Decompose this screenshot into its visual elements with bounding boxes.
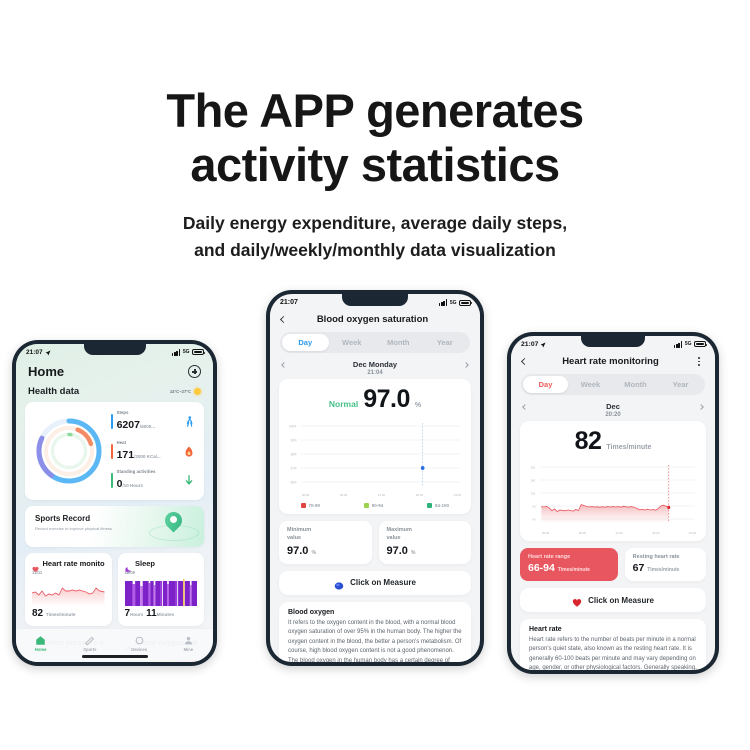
health-data-heading: Health data [28, 386, 79, 397]
reading-value: 97.0 [363, 385, 410, 414]
signal-icon [439, 299, 448, 306]
legend-label: 70-90 [309, 503, 321, 508]
card-sleep[interactable]: Sleep 12/09 [118, 553, 205, 626]
location-arrow-icon [540, 342, 546, 348]
svg-text:96%: 96% [291, 480, 297, 484]
heart-rate-info-card: Heart rate Heart rate refers to the numb… [520, 619, 706, 670]
min-value: 97.0 % [287, 545, 364, 557]
svg-text:160: 160 [531, 478, 536, 482]
metric-accent-bar [111, 414, 113, 429]
activity-rings [33, 415, 105, 487]
tab-label: Devices [131, 647, 147, 652]
svg-text:120: 120 [531, 491, 536, 495]
resting-heart-rate-card: Resting heart rate 67 Times/minute [625, 548, 706, 581]
card-date: 12/09 [125, 570, 198, 575]
reading-value: 82 [575, 427, 602, 456]
min-max-row: Minimum value 97.0 % Maximum value 97.0 … [279, 521, 471, 564]
date-label: Dec Monday [353, 360, 397, 369]
svg-text:200: 200 [531, 465, 536, 469]
location-arrow-icon [45, 350, 51, 356]
metric-accent-bar [111, 444, 113, 459]
tab-label: Home [35, 647, 47, 652]
segment-day[interactable]: Day [282, 334, 329, 351]
min-label-2: value [287, 535, 364, 543]
card-title: Sleep [135, 559, 155, 568]
svg-text:99%: 99% [291, 438, 297, 442]
maximum-value-card: Maximum value 97.0 % [379, 521, 472, 564]
battery-icon [192, 349, 204, 355]
tab-mine[interactable]: Mine [164, 633, 213, 652]
min-label-1: Minimum [287, 527, 364, 535]
click-on-measure-button[interactable]: Click on Measure [520, 588, 706, 612]
phone-notch [342, 294, 408, 306]
measure-label: Click on Measure [588, 596, 654, 605]
svg-text:97%: 97% [291, 466, 297, 470]
x-tick: 06:00 [579, 531, 586, 535]
status-badge: Normal [329, 399, 358, 409]
x-tick: 18:00 [652, 531, 659, 535]
legend-item: 90-94 [364, 503, 383, 508]
max-label-1: Maximum [387, 527, 464, 535]
reading-unit: Times/minute [606, 444, 651, 451]
flame-icon [183, 446, 194, 457]
health-summary-card[interactable]: Steps 6207/6000... Heat 171/2000 KCal... [25, 402, 204, 500]
chevron-right-icon[interactable] [698, 404, 704, 410]
metric-heat: Heat 171/2000 KCal... [111, 440, 194, 463]
nav-bar: Blood oxygen saturation [270, 308, 480, 332]
blood-oxygen-info-card: Blood oxygen It refers to the oxygen con… [279, 602, 471, 662]
hr-chart-card: 82 Times/minute [520, 421, 706, 541]
hero-section: The APP generates activity statistics Da… [0, 0, 750, 263]
sleep-bar-chart [125, 579, 198, 606]
heart-rate-range-card: Heart rate range 66-94 Times/minute [520, 548, 618, 581]
title-line-2: activity statistics [0, 138, 750, 192]
period-segmented-control: Day Week Month Year [280, 332, 470, 353]
legend-item: 70-90 [301, 503, 320, 508]
hr-stats-row: Heart rate range 66-94 Times/minute Rest… [520, 548, 706, 581]
card-date: 12/11 [32, 570, 105, 575]
segment-month[interactable]: Month [375, 334, 422, 351]
card-value: 82 Times/minute [32, 608, 105, 619]
period-segmented-control: Day Week Month Year [521, 374, 705, 395]
metric-value: 6207/6000... [117, 419, 155, 431]
x-tick: 24:00 [689, 531, 696, 535]
metric-value: 171/2000 KCal... [117, 449, 161, 461]
hr-resting-value: 67 Times/minute [633, 562, 698, 574]
network-label: 5G [685, 341, 692, 347]
subtitle-line-1: Daily energy expenditure, average daily … [0, 210, 750, 237]
home-title: Home [28, 364, 64, 379]
card-heart-rate[interactable]: Heart rate monitoring 12/11 82 Times/min… [25, 553, 112, 626]
chevron-right-icon[interactable] [463, 362, 469, 368]
hr-resting-label: Resting heart rate [633, 554, 698, 560]
phone-home-screen: 21:07 5G Home Health data 14°C~27°C [12, 340, 217, 666]
metric-steps: Steps 6207/6000... [111, 410, 194, 433]
chevron-left-icon[interactable] [281, 362, 287, 368]
tab-sports[interactable]: Sports [65, 633, 114, 652]
info-title: Blood oxygen [288, 609, 462, 616]
heart-rate-sparkline [32, 579, 105, 606]
x-tick: 00:00 [302, 493, 309, 497]
info-body: It refers to the oxygen content in the b… [288, 619, 462, 662]
signal-icon [172, 349, 181, 355]
subtitle-line-2: and daily/weekly/monthly data visualizat… [0, 237, 750, 264]
network-label: 5G [183, 349, 190, 355]
hr-range-value: 66-94 Times/minute [528, 562, 610, 574]
hr-range-label: Heart rate range [528, 554, 610, 560]
date-picker: Dec Monday [270, 353, 480, 370]
signal-icon [674, 341, 683, 347]
metric-label: Steps [117, 410, 179, 415]
chevron-left-icon[interactable] [522, 404, 528, 410]
hr-reading: 82 Times/minute [528, 427, 698, 456]
nav-title: Blood oxygen saturation [286, 314, 459, 325]
moon-icon [125, 560, 132, 567]
segment-month[interactable]: Month [613, 376, 658, 393]
battery-icon [459, 300, 471, 306]
sports-record-card[interactable]: Sports Record Record exercise to improve… [25, 506, 204, 547]
spo2-chart-svg: 100% 99% 98% 97% 96% [287, 418, 463, 492]
status-time: 21:07 [26, 349, 43, 356]
measure-blue-icon [334, 578, 344, 588]
spo2-legend: 70-90 90-94 94-100 [287, 497, 463, 508]
click-on-measure-button[interactable]: Click on Measure [279, 571, 471, 595]
max-value: 97.0 % [387, 545, 464, 557]
spo2-reading: Normal 97.0 % [287, 385, 463, 414]
person-icon [183, 633, 194, 644]
network-label: 5G [450, 300, 457, 306]
heart-icon [32, 560, 39, 567]
tab-label: Mine [184, 647, 194, 652]
hr-chart-svg: 200 160 120 80 40 [528, 460, 698, 530]
phone-spo2-screen: 21:07 5G Blood oxygen saturation Day Wee… [266, 290, 484, 666]
info-body: Heart rate refers to the number of beats… [529, 636, 697, 670]
metric-value: 0/10 Hours [117, 478, 143, 490]
title-line-1: The APP generates [0, 84, 750, 138]
weather-temp: 14°C~27°C [170, 389, 191, 394]
segment-week[interactable]: Week [568, 376, 613, 393]
page-subtitle: Daily energy expenditure, average daily … [0, 210, 750, 263]
svg-text:80: 80 [532, 504, 535, 508]
info-title: Heart rate [529, 626, 697, 633]
shoe-icon [84, 633, 95, 644]
sun-icon [194, 388, 201, 395]
phone-notch [84, 344, 146, 355]
legend-label: 90-94 [372, 503, 384, 508]
x-tick: 24:00 [454, 493, 461, 497]
metric-accent-bar [111, 473, 113, 488]
segment-week[interactable]: Week [329, 334, 376, 351]
reading-unit: % [415, 402, 421, 409]
metric-label: Heat [117, 440, 179, 445]
arrow-down-icon [183, 475, 194, 486]
svg-text:40: 40 [532, 517, 535, 521]
tab-devices[interactable]: Devices [115, 633, 164, 652]
page-title: The APP generates activity statistics [0, 0, 750, 191]
hr-chart: 200 160 120 80 40 [528, 460, 698, 530]
x-tick: 18:00 [416, 493, 423, 497]
home-indicator [82, 655, 148, 658]
battery-icon [694, 341, 706, 347]
max-label-2: value [387, 535, 464, 543]
kebab-menu-icon[interactable] [694, 357, 704, 365]
walking-icon [183, 416, 194, 427]
segment-year[interactable]: Year [422, 334, 469, 351]
measure-heart-icon [572, 595, 582, 605]
phone-heart-rate-screen: 21:07 5G Heart rate monitoring Day Week … [507, 332, 719, 674]
segment-day[interactable]: Day [523, 376, 568, 393]
status-time: 21:07 [521, 341, 538, 348]
weather-widget: 14°C~27°C [170, 388, 201, 395]
legend-item: 94-100 [427, 503, 449, 508]
reading-time: 21:04 [270, 370, 480, 379]
date-picker: Dec [511, 395, 715, 412]
tab-home[interactable]: Home [16, 633, 65, 652]
nav-title: Heart rate monitoring [527, 356, 694, 367]
reading-time: 20:20 [511, 412, 715, 421]
date-label: Dec [606, 402, 620, 411]
phone-notch [581, 336, 645, 347]
minimum-value-card: Minimum value 97.0 % [279, 521, 372, 564]
plus-circle-icon[interactable] [188, 365, 201, 378]
nav-bar: Heart rate monitoring [511, 350, 715, 374]
x-tick: 12:00 [378, 493, 385, 497]
metric-label: Standing activities [117, 469, 179, 474]
home-icon [35, 633, 46, 644]
card-title: Heart rate monitoring [43, 559, 105, 568]
x-tick: 12:00 [615, 531, 622, 535]
svg-text:100%: 100% [289, 424, 297, 428]
mini-cards-row-1: Heart rate monitoring 12/11 82 Times/min… [25, 553, 204, 626]
tab-label: Sports [83, 647, 96, 652]
legend-label: 94-100 [435, 503, 449, 508]
watch-icon [134, 633, 145, 644]
spo2-chart-card: Normal 97.0 % 100% 99% 98% [279, 379, 471, 514]
card-value: 7Hours 11Minutes [125, 608, 198, 619]
svg-text:98%: 98% [291, 452, 297, 456]
status-time: 21:07 [280, 299, 298, 306]
x-tick: 00:00 [542, 531, 549, 535]
spo2-chart: 100% 99% 98% 97% 96% [287, 418, 463, 492]
x-tick: 06:00 [340, 493, 347, 497]
measure-label: Click on Measure [350, 578, 416, 587]
segment-year[interactable]: Year [658, 376, 703, 393]
location-pin-icon [165, 512, 182, 534]
metric-standing: Standing activities 0/10 Hours [111, 469, 194, 492]
hr-x-axis: 00:00 06:00 12:00 18:00 24:00 [528, 530, 698, 535]
